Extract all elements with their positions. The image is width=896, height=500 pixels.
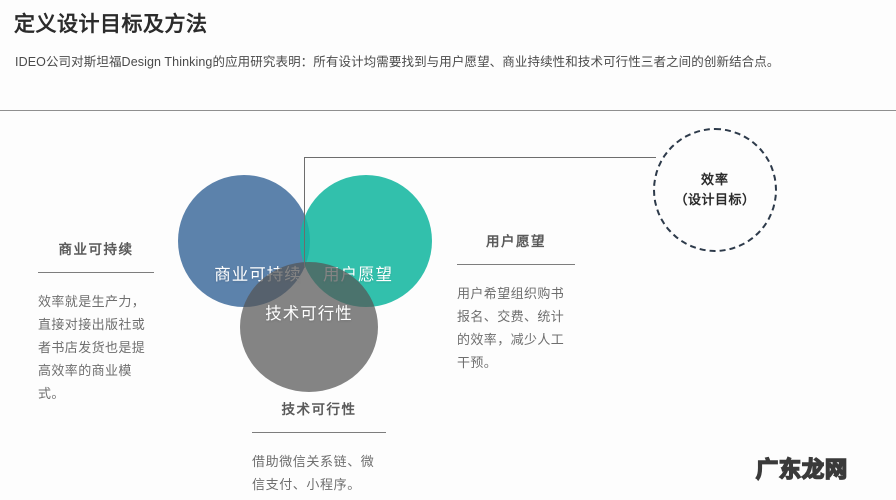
goal-circle[interactable]: 效率 （设计目标） [653,128,777,252]
note-business-body: 效率就是生产力，直接对接出版社或者书店发货也是提高效率的商业模式。 [38,290,154,405]
connector-line-horizontal [304,157,656,158]
note-feasible: 技术可行性 借助微信关系链、微信支付、小程序。 [252,398,386,496]
connector-line-vertical [304,157,305,268]
goal-title: 效率 [701,170,729,190]
note-desire-divider [457,264,575,265]
page-subtitle: IDEO公司对斯坦福Design Thinking的应用研究表明：所有设计均需要… [15,51,779,70]
note-business-divider [38,272,154,273]
note-desire-title: 用户愿望 [457,230,575,250]
note-feasible-divider [252,432,386,433]
note-business-title: 商业可持续 [38,238,154,258]
venn-label-feasible: 技术可行性 [265,300,353,324]
venn-circle-feasible[interactable]: 技术可行性 [240,262,378,392]
goal-subtitle: （设计目标） [674,190,755,210]
note-desire-body: 用户希望组织购书报名、交费、统计的效率，减少人工干预。 [457,282,575,374]
venn-diagram: 商业可持续 用户愿望 技术可行性 [170,165,450,405]
slide-canvas: 定义设计目标及方法 IDEO公司对斯坦福Design Thinking的应用研究… [0,0,896,500]
note-feasible-title: 技术可行性 [252,398,386,418]
page-title: 定义设计目标及方法 [14,8,208,38]
note-business: 商业可持续 效率就是生产力，直接对接出版社或者书店发货也是提高效率的商业模式。 [38,238,154,405]
note-feasible-body: 借助微信关系链、微信支付、小程序。 [252,450,386,496]
header-divider [0,110,896,111]
note-desire: 用户愿望 用户希望组织购书报名、交费、统计的效率，减少人工干预。 [457,230,575,374]
watermark: 广东龙网 [756,452,848,484]
